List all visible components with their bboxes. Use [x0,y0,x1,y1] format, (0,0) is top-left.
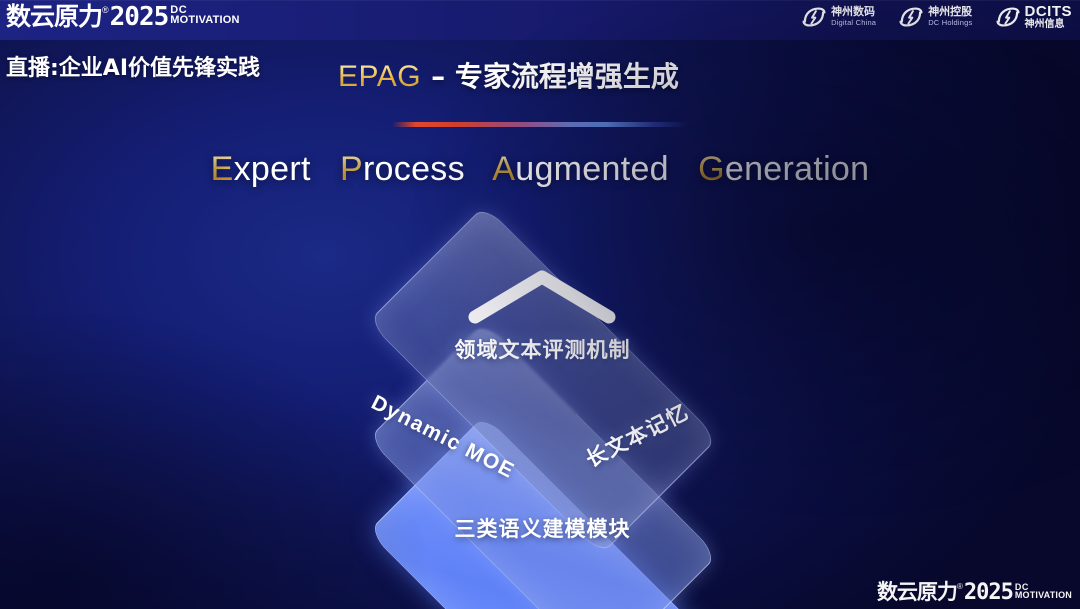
subtitle-rest-process: rocess [363,150,465,188]
brand-logo-top: 数云原力 ® 2025 DC MOTIVATION [6,2,240,32]
swirl-icon [801,4,827,30]
brand-motivation-label: MOTIVATION [170,15,239,26]
subtitle-cap-g: G [698,150,725,188]
subtitle-word-augmented: Augmented [492,150,669,188]
partner-logo-group: 神州数码 Digital China 神州控股 DC H [801,4,1072,30]
subtitle-expansion: Expert Process Augmented Generation [0,150,1080,189]
title-chinese: – 专家流程增强生成 [431,55,679,95]
partner-label-group: 神州控股 DC Holdings [928,7,972,26]
brand-logo-watermark: 数云原力 ® 2025 DC MOTIVATION [877,580,1072,605]
watermark-motivation-label: MOTIVATION [1015,591,1072,600]
partner-name-en: DC Holdings [928,19,972,27]
partner-name-cn: 神州信息 [1025,20,1073,31]
subtitle-cap-e: E [211,150,234,188]
subtitle-space [475,150,485,188]
brand-name-cn: 数云原力 [6,2,102,32]
partner-logo-dcits: DCITS 神州信息 [995,4,1073,30]
subtitle-cap-p: P [340,150,363,188]
layer-stack-diagram: 领域文本评测机制 Dynamic MOE 长文本记忆 三类语义建模模块 [270,215,815,575]
subtitle-word-generation: Generation [698,150,869,188]
watermark-dc-motivation: DC MOTIVATION [1015,580,1072,600]
page-title: EPAG – 专家流程增强生成 [338,55,679,95]
swirl-icon [995,4,1021,30]
subtitle-rest-augmented: ugmented [515,150,669,188]
watermark-year: 2025 [964,580,1013,605]
watermark-name-cn: 数云原力 [877,580,957,605]
brand-year: 2025 [110,2,169,32]
gradient-divider [392,122,689,127]
brand-registered-mark: ® [102,4,109,16]
partner-name-en: Digital China [831,19,876,27]
title-acronym: EPAG [338,60,421,94]
partner-logo-digital-china: 神州数码 Digital China [801,4,876,30]
subtitle-word-process: Process [340,150,465,188]
partner-label-group: 神州数码 Digital China [831,7,876,26]
partner-label-group: DCITS 神州信息 [1025,4,1073,30]
subtitle-word-expert: Expert [211,150,311,188]
top-bar: 数云原力 ® 2025 DC MOTIVATION [0,0,1080,40]
live-stream-label: 直播:企业AI价值先锋实践 [6,50,260,82]
slide-root: 数云原力 ® 2025 DC MOTIVATION [0,0,1080,609]
swirl-icon [898,4,924,30]
subtitle-rest-expert: xpert [234,150,311,188]
brand-dc-motivation: DC MOTIVATION [170,2,239,26]
subtitle-space [320,150,330,188]
subtitle-space [679,150,689,188]
subtitle-rest-generation: eneration [725,150,869,188]
watermark-registered-mark: ® [957,582,963,592]
partner-logo-dc-holdings: 神州控股 DC Holdings [898,4,972,30]
subtitle-cap-a: A [492,150,515,188]
partner-name-en: DCITS [1025,4,1073,20]
